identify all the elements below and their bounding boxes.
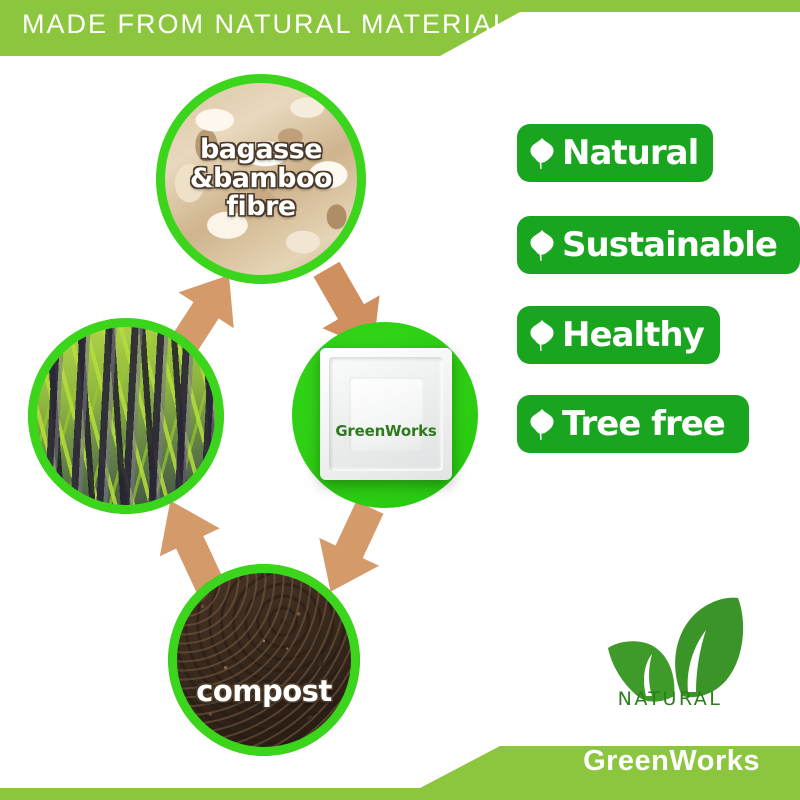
badge-tree-free[interactable]: Tree free <box>517 395 749 453</box>
badge-label: Natural <box>562 136 698 170</box>
badge-label: Sustainable <box>562 228 777 262</box>
node-sugarcane-ring <box>28 318 224 514</box>
header-title: MADE FROM NATURAL MATERIAL <box>22 9 510 40</box>
leaf-icon <box>527 136 557 170</box>
badge-sustainable[interactable]: Sustainable <box>517 216 800 274</box>
badge-natural[interactable]: Natural <box>517 124 713 182</box>
leaf-icon <box>527 318 557 352</box>
footer-brand: GreenWorks <box>583 745 760 778</box>
leaf-icon <box>527 228 557 262</box>
header-banner: MADE FROM NATURAL MATERIAL <box>0 0 800 60</box>
leaf-icon <box>527 407 557 441</box>
node-bagasse-ring <box>156 74 366 284</box>
logo-wordmark: NATURAL <box>560 688 780 710</box>
badge-healthy[interactable]: Healthy <box>517 306 720 364</box>
brand-logo: NATURAL <box>560 596 780 726</box>
badge-label: Tree free <box>562 407 725 441</box>
poster-canvas: MADE FROM NATURAL MATERIAL bagasse &bamb… <box>0 0 800 800</box>
plate-brand-label: GreenWorks <box>320 422 452 440</box>
plate-rim <box>329 357 443 471</box>
product-plate[interactable]: GreenWorks <box>320 348 452 480</box>
node-compost-ring <box>168 564 360 756</box>
footer-banner: GreenWorks <box>0 732 800 800</box>
badge-label: Healthy <box>562 318 704 352</box>
